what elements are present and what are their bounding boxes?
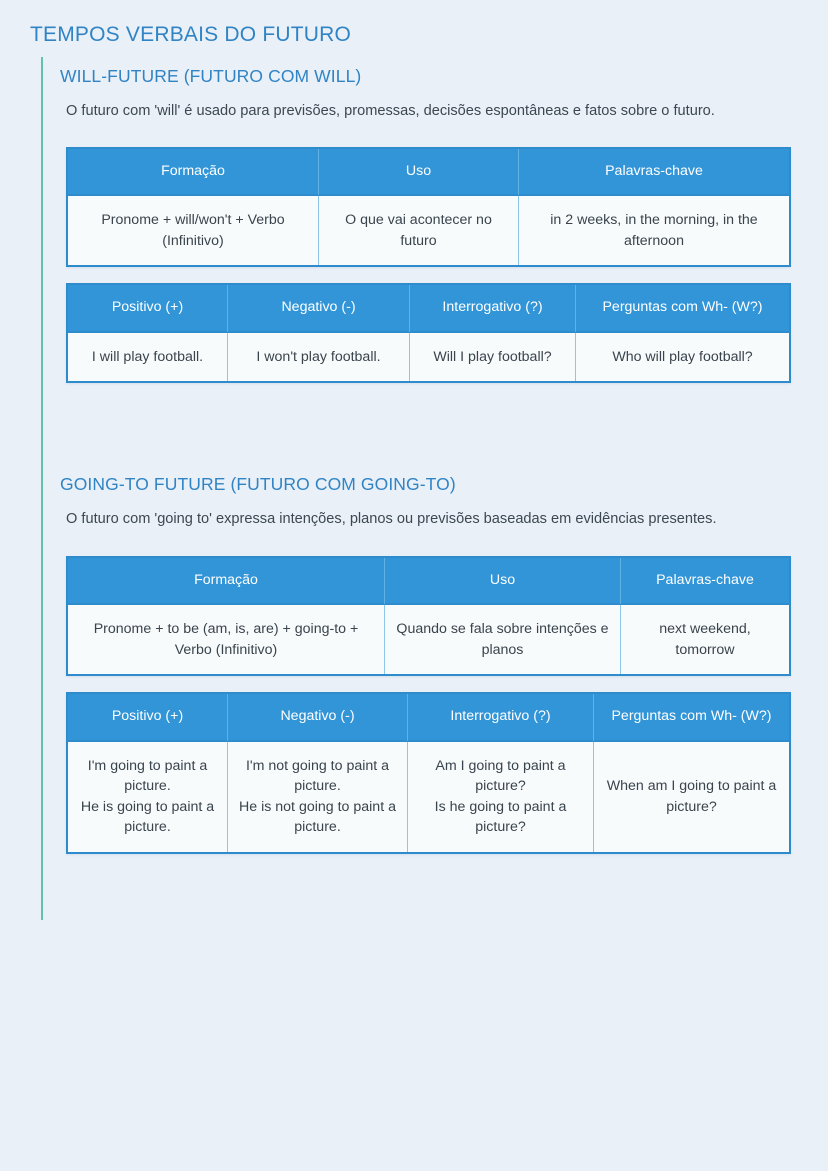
cell-formacao: Pronome + will/won't + Verbo (Infinitivo…: [68, 196, 319, 265]
column-header-uso: Uso: [319, 149, 519, 196]
column-header-negativo: Negativo (-): [228, 285, 410, 332]
table-goingto-overview: Formação Uso Palavras-chave Pronome + to…: [66, 556, 791, 676]
column-header-palavras-chave: Palavras-chave: [621, 558, 789, 605]
table-goingto-forms: Positivo (+) Negativo (-) Interrogativo …: [66, 692, 791, 854]
column-header-formacao: Formação: [68, 149, 319, 196]
table-header-row: Formação Uso Palavras-chave: [68, 149, 789, 196]
cell-positivo: I will play football.: [68, 333, 228, 382]
section-going-to-future: GOING-TO FUTURE (FUTURO COM GOING-TO) O …: [41, 465, 810, 920]
section-title-will-future: WILL-FUTURE (FUTURO COM WILL): [60, 57, 810, 87]
table-row: Pronome + will/won't + Verbo (Infinitivo…: [68, 196, 789, 265]
cell-negativo: I won't play football.: [228, 333, 410, 382]
table-header-row: Positivo (+) Negativo (-) Interrogativo …: [68, 285, 789, 332]
cell-wh-perguntas: When am I going to paint a picture?: [594, 742, 789, 852]
cell-negativo: I'm not going to paint a picture.He is n…: [228, 742, 408, 852]
column-header-formacao: Formação: [68, 558, 385, 605]
column-header-uso: Uso: [385, 558, 621, 605]
column-header-interrogativo: Interrogativo (?): [408, 694, 594, 741]
table-row: I will play football. I won't play footb…: [68, 333, 789, 382]
table-row: I'm going to paint a picture.He is going…: [68, 742, 789, 852]
cell-uso: Quando se fala sobre intenções e planos: [385, 605, 621, 674]
column-header-positivo: Positivo (+): [68, 285, 228, 332]
column-header-positivo: Positivo (+): [68, 694, 228, 741]
cell-positivo: I'm going to paint a picture.He is going…: [68, 742, 228, 852]
cell-palavras-chave: next weekend, tomorrow: [621, 605, 789, 674]
section-will-future: WILL-FUTURE (FUTURO COM WILL) O futuro c…: [41, 57, 810, 467]
column-header-wh-perguntas: Perguntas com Wh- (W?): [594, 694, 789, 741]
table-wrapper-goingto-forms: Positivo (+) Negativo (-) Interrogativo …: [60, 692, 810, 854]
table-wrapper-will-overview: Formação Uso Palavras-chave Pronome + wi…: [60, 147, 810, 267]
table-wrapper-will-forms: Positivo (+) Negativo (-) Interrogativo …: [60, 283, 810, 383]
cell-formacao: Pronome + to be (am, is, are) + going-to…: [68, 605, 385, 674]
cell-palavras-chave: in 2 weeks, in the morning, in the after…: [519, 196, 789, 265]
column-header-wh-perguntas: Perguntas com Wh- (W?): [576, 285, 789, 332]
page-title: TEMPOS VERBAIS DO FUTURO: [30, 23, 351, 47]
section-title-going-to-future: GOING-TO FUTURE (FUTURO COM GOING-TO): [60, 465, 810, 495]
cell-interrogativo: Will I play football?: [410, 333, 576, 382]
column-header-negativo: Negativo (-): [228, 694, 408, 741]
table-will-forms: Positivo (+) Negativo (-) Interrogativo …: [66, 283, 791, 383]
section-description-going-to-future: O futuro com 'going to' expressa intençõ…: [60, 495, 796, 531]
cell-wh-perguntas: Who will play football?: [576, 333, 789, 382]
table-will-overview: Formação Uso Palavras-chave Pronome + wi…: [66, 147, 791, 267]
table-header-row: Positivo (+) Negativo (-) Interrogativo …: [68, 694, 789, 741]
column-header-palavras-chave: Palavras-chave: [519, 149, 789, 196]
column-header-interrogativo: Interrogativo (?): [410, 285, 576, 332]
cell-uso: O que vai acontecer no futuro: [319, 196, 519, 265]
table-header-row: Formação Uso Palavras-chave: [68, 558, 789, 605]
cell-interrogativo: Am I going to paint a picture?Is he goin…: [408, 742, 594, 852]
table-wrapper-goingto-overview: Formação Uso Palavras-chave Pronome + to…: [60, 556, 810, 676]
section-description-will-future: O futuro com 'will' é usado para previsõ…: [60, 87, 796, 123]
document-page: TEMPOS VERBAIS DO FUTURO WILL-FUTURE (FU…: [0, 0, 828, 1171]
table-row: Pronome + to be (am, is, are) + going-to…: [68, 605, 789, 674]
